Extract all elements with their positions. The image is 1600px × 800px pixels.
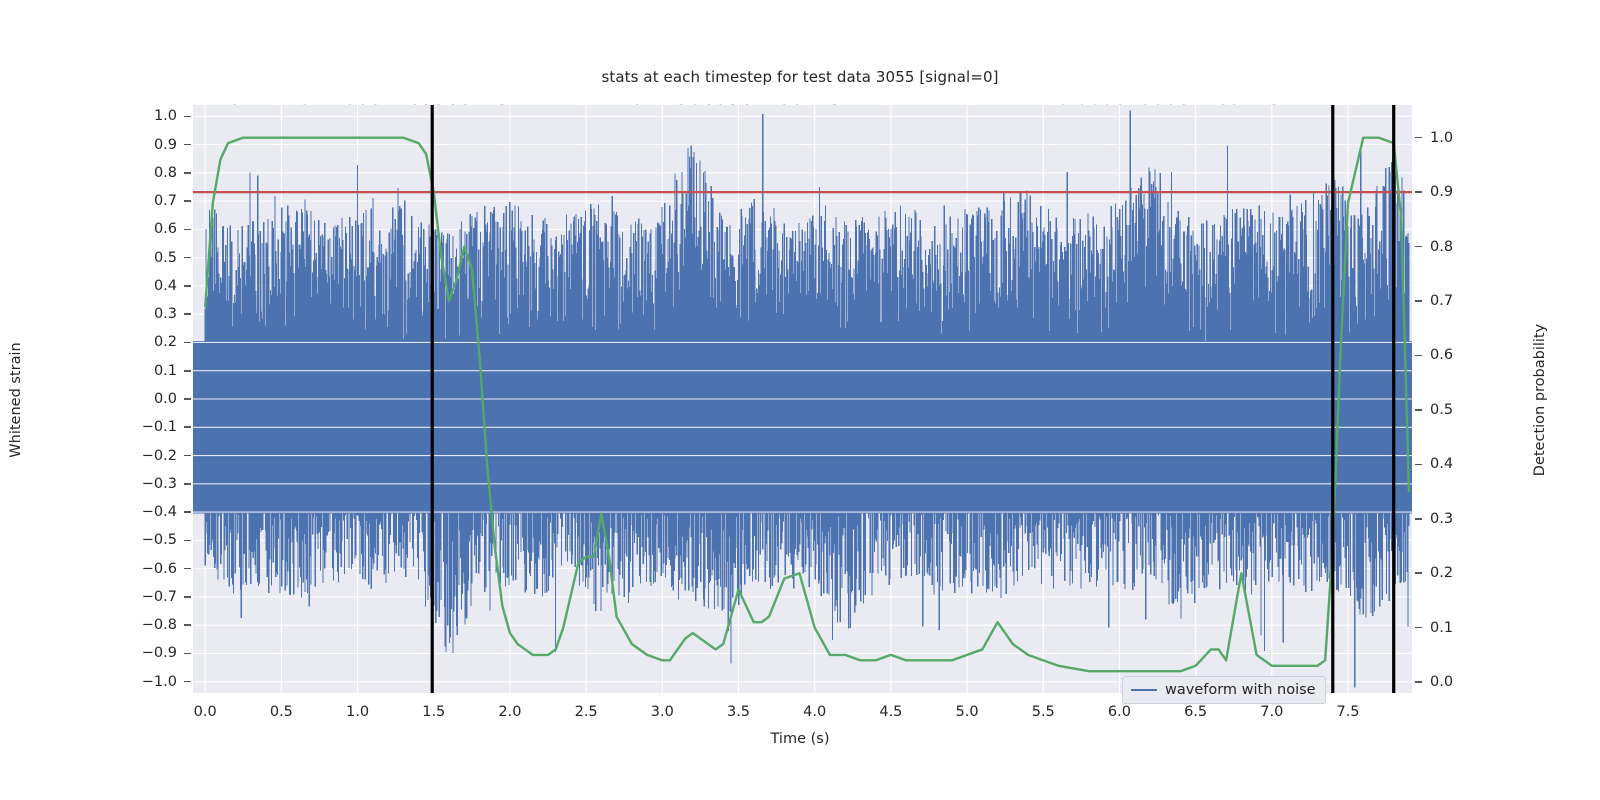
y-axis-right-tick-mark — [1415, 681, 1422, 683]
y-axis-right-tick-mark — [1415, 572, 1422, 574]
x-axis-tick-label: 1.0 — [346, 704, 369, 720]
x-axis-tick-label: 7.0 — [1260, 704, 1283, 720]
y-axis-left-tick-label: −0.4 — [131, 504, 177, 520]
y-axis-left-tick-mark — [184, 653, 191, 655]
y-axis-left-tick-label: −0.2 — [131, 448, 177, 464]
x-axis-tick-label: 2.5 — [575, 704, 598, 720]
y-axis-left-tick-label: 0.7 — [131, 193, 177, 209]
y-axis-left-tick-mark — [184, 483, 191, 485]
y-axis-right-tick-label: 0.9 — [1430, 184, 1476, 200]
y-axis-left-tick-label: −0.9 — [131, 645, 177, 661]
y-axis-left-tick-mark — [184, 342, 191, 344]
y-axis-right-tick-label: 1.0 — [1430, 130, 1476, 146]
waveform-series — [193, 111, 1412, 688]
page-title: stats at each timestep for test data 305… — [0, 68, 1600, 86]
y-axis-left-tick-mark — [184, 681, 191, 683]
y-axis-right-label: Detection probability — [1532, 324, 1548, 476]
x-axis-tick-label: 6.5 — [1184, 704, 1207, 720]
y-axis-right-tick-mark — [1415, 191, 1422, 193]
y-axis-left-tick-mark — [184, 455, 191, 457]
y-axis-right-tick-label: 0.7 — [1430, 293, 1476, 309]
y-axis-right-tick-label: 0.4 — [1430, 456, 1476, 472]
x-axis-tick-label: 5.5 — [1032, 704, 1055, 720]
x-axis-tick-label: 4.0 — [803, 704, 826, 720]
y-axis-right-tick-mark — [1415, 518, 1422, 520]
y-axis-left-tick-label: −0.6 — [131, 561, 177, 577]
y-axis-left-tick-mark — [184, 624, 191, 626]
legend: waveform with noise — [1122, 676, 1326, 704]
x-axis-tick-label: 6.0 — [1108, 704, 1131, 720]
y-axis-right-tick-label: 0.5 — [1430, 402, 1476, 418]
y-axis-right-tick-mark — [1415, 464, 1422, 466]
y-axis-left-tick-mark — [184, 313, 191, 315]
y-axis-left-tick-mark — [184, 426, 191, 428]
y-axis-left-tick-mark — [184, 144, 191, 146]
y-axis-right-tick-label: 0.0 — [1430, 674, 1476, 690]
x-axis-tick-label: 2.0 — [498, 704, 521, 720]
legend-waveform-label: waveform with noise — [1165, 682, 1316, 698]
y-axis-left-tick-label: 1.0 — [131, 108, 177, 124]
y-axis-left-tick-mark — [184, 370, 191, 372]
y-axis-left-tick-mark — [184, 596, 191, 598]
y-axis-left-tick-mark — [184, 540, 191, 542]
legend-waveform-swatch — [1131, 689, 1157, 691]
x-axis-tick-label: 1.5 — [422, 704, 445, 720]
x-axis-tick-label: 3.0 — [651, 704, 674, 720]
y-axis-right-tick-mark — [1415, 137, 1422, 139]
y-axis-left-tick-mark — [184, 511, 191, 513]
y-axis-left-tick-label: 0.1 — [131, 363, 177, 379]
y-axis-right-tick-label: 0.2 — [1430, 565, 1476, 581]
y-axis-left-tick-label: 0.2 — [131, 334, 177, 350]
y-axis-left-tick-mark — [184, 257, 191, 259]
y-axis-left-tick-label: 0.9 — [131, 137, 177, 153]
x-axis-tick-label: 7.5 — [1336, 704, 1359, 720]
x-axis-tick-label: 4.5 — [879, 704, 902, 720]
plot-canvas — [193, 105, 1412, 693]
y-axis-left-tick-mark — [184, 285, 191, 287]
plot-area — [193, 105, 1412, 693]
y-axis-right-tick-label: 0.3 — [1430, 511, 1476, 527]
y-axis-right-tick-label: 0.6 — [1430, 347, 1476, 363]
x-axis-label: Time (s) — [0, 731, 1600, 747]
y-axis-right-tick-mark — [1415, 627, 1422, 629]
y-axis-left-label: Whitened strain — [8, 342, 24, 457]
y-axis-left-tick-label: −0.7 — [131, 589, 177, 605]
y-axis-right-tick-mark — [1415, 409, 1422, 411]
y-axis-left-tick-mark — [184, 200, 191, 202]
y-axis-left-tick-label: 0.0 — [131, 391, 177, 407]
y-axis-right-tick-label: 0.8 — [1430, 239, 1476, 255]
y-axis-left-tick-label: 0.5 — [131, 250, 177, 266]
y-axis-left-tick-mark — [184, 568, 191, 570]
x-axis-tick-label: 5.0 — [956, 704, 979, 720]
figure: stats at each timestep for test data 305… — [0, 0, 1600, 800]
y-axis-left-tick-label: −0.3 — [131, 476, 177, 492]
y-axis-right-tick-mark — [1415, 300, 1422, 302]
y-axis-left-tick-mark — [184, 229, 191, 231]
y-axis-left-tick-label: −0.1 — [131, 419, 177, 435]
y-axis-left-tick-mark — [184, 172, 191, 174]
y-axis-left-tick-label: 0.8 — [131, 165, 177, 181]
y-axis-left-tick-label: 0.3 — [131, 306, 177, 322]
x-axis-tick-label: 3.5 — [727, 704, 750, 720]
y-axis-right-tick-mark — [1415, 355, 1422, 357]
y-axis-left-tick-mark — [184, 116, 191, 118]
x-axis-tick-label: 0.5 — [270, 704, 293, 720]
y-axis-left-tick-label: 0.4 — [131, 278, 177, 294]
y-axis-left-tick-label: −0.5 — [131, 532, 177, 548]
y-axis-left-tick-mark — [184, 398, 191, 400]
y-axis-left-tick-label: −1.0 — [131, 674, 177, 690]
y-axis-left-tick-label: −0.8 — [131, 617, 177, 633]
y-axis-left-tick-label: 0.6 — [131, 221, 177, 237]
y-axis-right-tick-label: 0.1 — [1430, 620, 1476, 636]
x-axis-tick-label: 0.0 — [194, 704, 217, 720]
y-axis-right-tick-mark — [1415, 246, 1422, 248]
